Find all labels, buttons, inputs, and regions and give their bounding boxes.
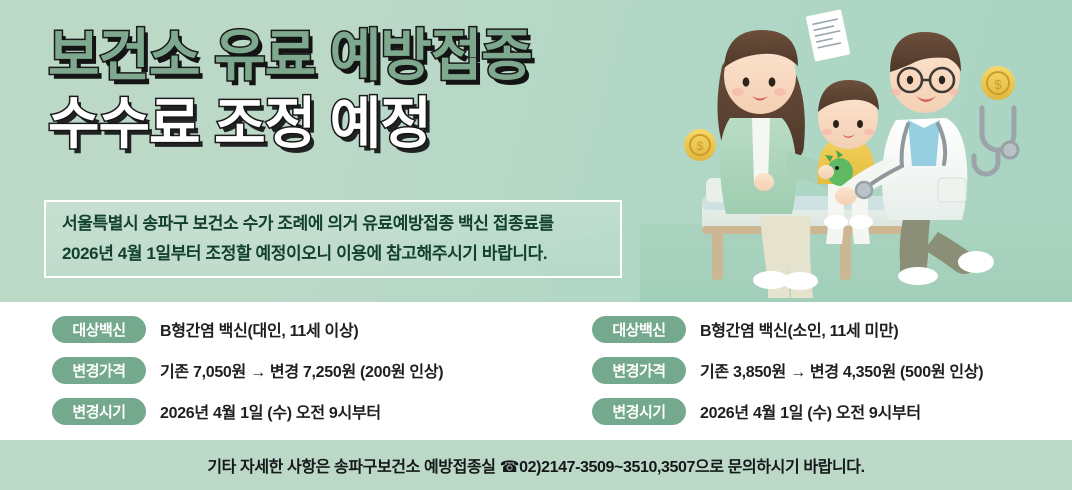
svg-text:$: $	[994, 77, 1002, 92]
value-effective-date: 2026년 4월 1일 (수) 오전 9시부터	[700, 399, 921, 423]
detail-row: 대상백신 B형간염 백신(대인, 11세 이상)	[52, 314, 552, 344]
title-line-2: 수수료 조정 예정	[48, 92, 688, 156]
receipt-icon	[806, 9, 851, 61]
svg-text:$: $	[697, 139, 704, 153]
value-target-vaccine: B형간염 백신(대인, 11세 이상)	[160, 317, 358, 341]
details-section: 대상백신 B형간염 백신(대인, 11세 이상) 변경가격 기존 7,050원 …	[0, 302, 1072, 440]
mother-child-doctor-illustration: $ $	[660, 0, 1072, 302]
detail-column-child: 대상백신 B형간염 백신(소인, 11세 미만) 변경가격 기존 3,850원 …	[592, 314, 1072, 437]
badge-effective-date: 변경시기	[52, 398, 146, 425]
detail-row: 변경시기 2026년 4월 1일 (수) 오전 9시부터	[52, 396, 552, 426]
detail-row: 변경가격 기존 3,850원 → 변경 4,350원 (500원 인상)	[592, 355, 1072, 385]
coin-icon-left: $	[684, 129, 716, 161]
vaccination-fee-notice-banner: 보건소 유료 예방접종 수수료 조정 예정 서울특별시 송파구 보건소 수가 조…	[0, 0, 1072, 490]
title-line-1: 보건소 유료 예방접종	[48, 24, 688, 88]
badge-price-change: 변경가격	[592, 357, 686, 384]
footer-contact-bar: 기타 자세한 사항은 송파구보건소 예방접종실 ☎02)2147-3509~35…	[0, 440, 1072, 490]
value-price-change: 기존 3,850원 → 변경 4,350원 (500원 인상)	[700, 358, 983, 382]
value-target-vaccine: B형간염 백신(소인, 11세 미만)	[700, 317, 898, 341]
telephone-icon: ☎	[500, 459, 520, 476]
subtitle-line-1: 서울특별시 송파구 보건소 수가 조례에 의거 유료예방접종 백신 접종료를	[62, 209, 604, 239]
page-title: 보건소 유료 예방접종 수수료 조정 예정	[48, 24, 688, 156]
detail-row: 변경시기 2026년 4월 1일 (수) 오전 9시부터	[592, 396, 1072, 426]
badge-target-vaccine: 대상백신	[592, 316, 686, 343]
hero-section: 보건소 유료 예방접종 수수료 조정 예정 서울특별시 송파구 보건소 수가 조…	[0, 0, 1072, 302]
footer-prefix: 기타 자세한 사항은 송파구보건소 예방접종실	[207, 459, 499, 476]
subtitle-line-2: 2026년 4월 1일부터 조정할 예정이오니 이용에 참고해주시기 바랍니다.	[62, 239, 604, 269]
badge-target-vaccine: 대상백신	[52, 316, 146, 343]
stethoscope-icon	[974, 108, 1018, 174]
badge-effective-date: 변경시기	[592, 398, 686, 425]
value-effective-date: 2026년 4월 1일 (수) 오전 9시부터	[160, 399, 381, 423]
footer-text: 기타 자세한 사항은 송파구보건소 예방접종실 ☎02)2147-3509~35…	[207, 453, 864, 477]
value-price-change: 기존 7,050원 → 변경 7,250원 (200원 인상)	[160, 358, 443, 382]
detail-row: 변경가격 기존 7,050원 → 변경 7,250원 (200원 인상)	[52, 355, 552, 385]
coin-icon-right: $	[981, 66, 1015, 100]
footer-suffix: 으로 문의하시기 바랍니다.	[695, 459, 865, 476]
detail-column-adult: 대상백신 B형간염 백신(대인, 11세 이상) 변경가격 기존 7,050원 …	[52, 314, 552, 437]
detail-row: 대상백신 B형간염 백신(소인, 11세 미만)	[592, 314, 1072, 344]
subtitle-box: 서울특별시 송파구 보건소 수가 조례에 의거 유료예방접종 백신 접종료를 2…	[44, 200, 622, 278]
badge-price-change: 변경가격	[52, 357, 146, 384]
footer-phone-number[interactable]: 02)2147-3509~3510,3507	[519, 459, 695, 476]
